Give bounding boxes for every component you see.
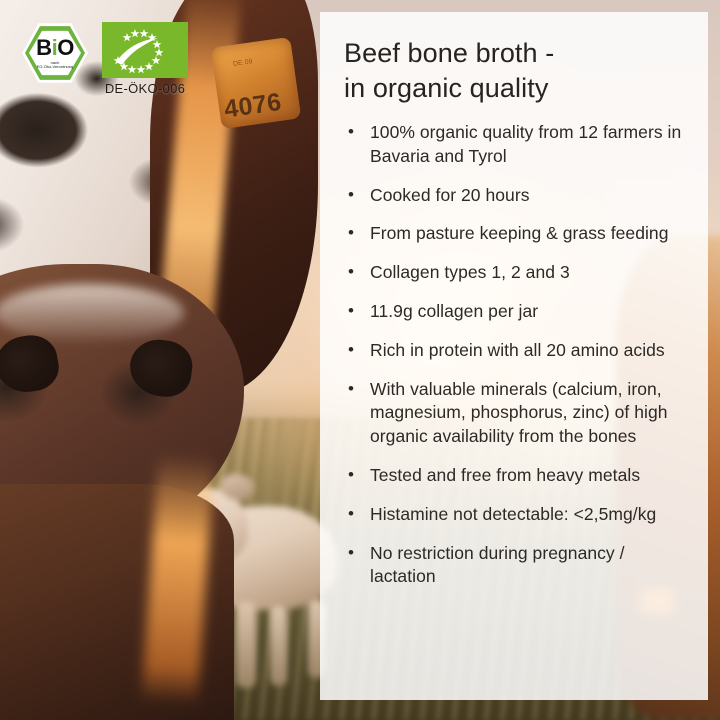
product-title: Beef bone broth - in organic quality xyxy=(344,36,690,105)
ear-tag-number: 4076 xyxy=(222,86,298,125)
product-info-panel: Beef bone broth - in organic quality 100… xyxy=(320,12,708,700)
feature-item: 100% organic quality from 12 farmers in … xyxy=(344,121,690,169)
feature-item: With valuable minerals (calcium, iron, m… xyxy=(344,378,690,449)
product-infographic: DE 09 4076 BiO nach EG-Öko-Verordnung xyxy=(0,0,720,720)
cow-ear-tag: DE 09 4076 xyxy=(211,37,302,129)
product-title-line-1: Beef bone broth - xyxy=(344,36,690,71)
ear-tag-small-text: DE 09 xyxy=(233,54,288,69)
feature-item: No restriction during pregnancy / lactat… xyxy=(344,542,690,590)
german-bio-seal-icon: BiO nach EG-Öko-Verordnung xyxy=(22,22,88,84)
feature-item: Tested and free from heavy metals xyxy=(344,464,690,488)
feature-item: 11.9g collagen per jar xyxy=(344,300,690,324)
feature-item: Rich in protein with all 20 amino acids xyxy=(344,339,690,363)
eu-organic-code: DE-ÖKO-006 xyxy=(105,81,185,96)
product-title-line-2: in organic quality xyxy=(344,71,690,106)
eu-organic-leaf-icon xyxy=(102,22,188,78)
eu-organic-badge: DE-ÖKO-006 xyxy=(102,22,188,96)
bio-seal-subtext-line2: EG-Öko-Verordnung xyxy=(36,65,74,69)
certification-badges: BiO nach EG-Öko-Verordnung xyxy=(22,22,188,96)
feature-list: 100% organic quality from 12 farmers in … xyxy=(344,121,690,589)
feature-item: Histamine not detectable: <2,5mg/kg xyxy=(344,503,690,527)
cow-nose-bridge xyxy=(0,284,184,342)
bio-seal-text: BiO nach EG-Öko-Verordnung xyxy=(36,37,74,69)
feature-item: Cooked for 20 hours xyxy=(344,184,690,208)
foreground-cow-head: DE 09 4076 xyxy=(0,0,314,720)
feature-item: From pasture keeping & grass feeding xyxy=(344,222,690,246)
feature-item: Collagen types 1, 2 and 3 xyxy=(344,261,690,285)
bio-seal-wordmark: BiO xyxy=(36,37,74,59)
